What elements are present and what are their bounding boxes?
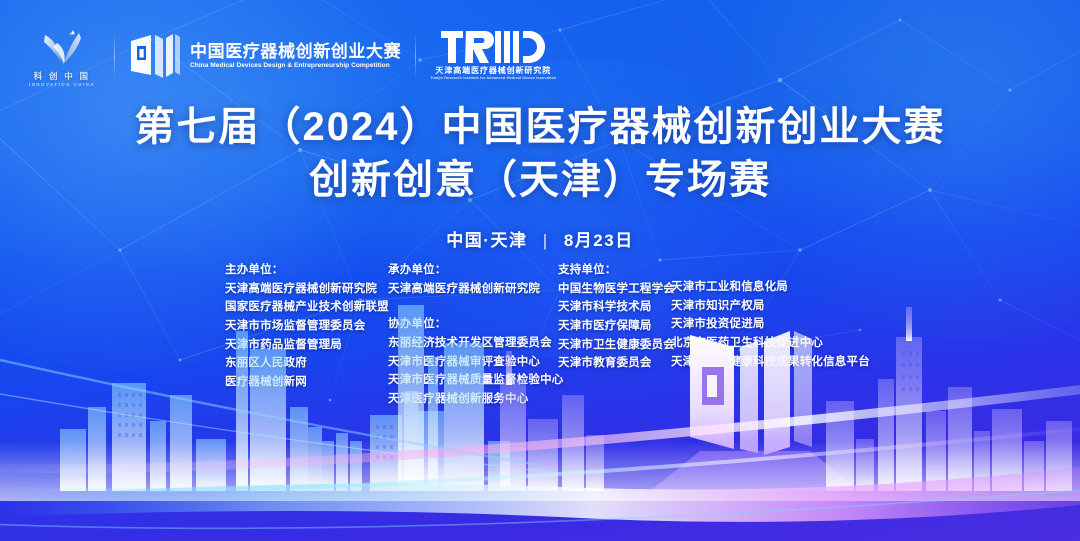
org-name: 天津市卫生健康科技成果转化信息平台 (671, 353, 871, 372)
org-name: 东丽经济技术开发区管理委员会 (388, 334, 558, 353)
org-name: 天津高端医疗器械创新研究院 (388, 280, 558, 299)
ground-glow-band (0, 467, 1080, 522)
supporter-column-2: 天津市工业和信息化局天津市知识产权局天津市投资促进局北京市医药卫生科技促进中心天… (671, 261, 871, 371)
org-name: 东丽区人民政府 (225, 354, 388, 373)
subtitle-divider: | (543, 231, 549, 251)
org-name: 天津市科学技术局 (558, 298, 671, 317)
org-name: 天津市卫生健康委员会 (558, 336, 671, 355)
organizations-block: 主办单位：天津高端医疗器械创新研究院国家医疗器械产业技术创新联盟天津市市场监督管… (225, 261, 871, 408)
org-name: 天津市市场监督管理委员会 (225, 317, 388, 336)
organizer-column: 主办单位：天津高端医疗器械创新研究院国家医疗器械产业技术创新联盟天津市市场监督管… (225, 261, 388, 391)
competition-logo: 中国医疗器械创新创业大赛 China Medical Devices Desig… (129, 22, 401, 90)
cmdc-open-book-mark (129, 31, 181, 81)
logo-divider-2 (415, 33, 416, 79)
title-line-2: 创新创意（天津）专场赛 (0, 157, 1080, 204)
institute-logo: 天津高端医疗器械创新研究院 Tianjin Research Institute… (430, 22, 556, 90)
host-column: 承办单位：天津高端医疗器械创新研究院协办单位：东丽经济技术开发区管理委员会天津市… (388, 261, 558, 408)
org-name: 天津市医疗保障局 (558, 317, 671, 336)
institute-en-label: Tianjin Research Institute for Advanced … (430, 77, 556, 81)
banner-subtitle: 中国·天津 | 8月23日 (0, 226, 1080, 251)
org-name: 天津市投资促进局 (671, 315, 871, 334)
innovation-china-cn-label: 科 创 中 国 (34, 72, 91, 81)
light-streak-cyan (0, 425, 1080, 490)
light-streak-thin (0, 487, 1080, 528)
innovation-china-bird-mark (37, 29, 87, 69)
org-category-heading: 支持单位： (558, 261, 671, 280)
event-location: 中国·天津 (446, 231, 527, 250)
org-name: 天津市知识产权局 (671, 297, 871, 316)
org-name: 国家医疗器械产业技术创新联盟 (225, 298, 388, 317)
org-name: 医疗器械创新网 (225, 373, 388, 392)
org-name: 天津市医疗器械审评查验中心 (388, 353, 558, 372)
innovation-china-en-label: INNOVATION CHINA (29, 83, 95, 87)
org-name: 天津医疗器械创新服务中心 (388, 390, 558, 409)
org-name: 中国生物医学工程学会 (558, 280, 671, 299)
org-name: 天津市教育委员会 (558, 354, 671, 373)
org-category-heading: 协办单位： (388, 315, 558, 334)
banner-title: 第七届（2024）中国医疗器械创新创业大赛 创新创意（天津）专场赛 (0, 104, 1080, 204)
logo-divider-1 (114, 33, 115, 79)
org-name: 天津高端医疗器械创新研究院 (225, 280, 388, 299)
event-banner: 科 创 中 国 INNOVATION CHINA 中国医疗器械创新创业大赛 Ch… (0, 0, 1080, 541)
institute-cn-label: 天津高端医疗器械创新研究院 (435, 67, 551, 75)
org-name: 北京市医药卫生科技促进中心 (671, 334, 871, 353)
logo-bar: 科 创 中 国 INNOVATION CHINA 中国医疗器械创新创业大赛 Ch… (24, 22, 556, 90)
competition-cn-title: 中国医疗器械创新创业大赛 (190, 42, 401, 61)
org-name: 天津市工业和信息化局 (671, 278, 871, 297)
org-category-heading: 主办单位： (225, 261, 388, 280)
title-line-1: 第七届（2024）中国医疗器械创新创业大赛 (0, 104, 1080, 151)
org-name: 天津市医疗器械质量监督检验中心 (388, 371, 558, 390)
org-category-heading: 承办单位： (388, 261, 558, 280)
trimd-wordmark (441, 31, 545, 63)
supporter-column: 支持单位：中国生物医学工程学会天津市科学技术局天津市医疗保障局天津市卫生健康委员… (558, 261, 671, 373)
org-name: 天津市药品监督管理局 (225, 336, 388, 355)
org-spacer (388, 298, 558, 315)
event-date: 8月23日 (564, 231, 634, 250)
competition-en-title: China Medical Devices Design & Entrepren… (190, 62, 401, 70)
innovation-china-logo: 科 创 中 国 INNOVATION CHINA (24, 22, 100, 90)
